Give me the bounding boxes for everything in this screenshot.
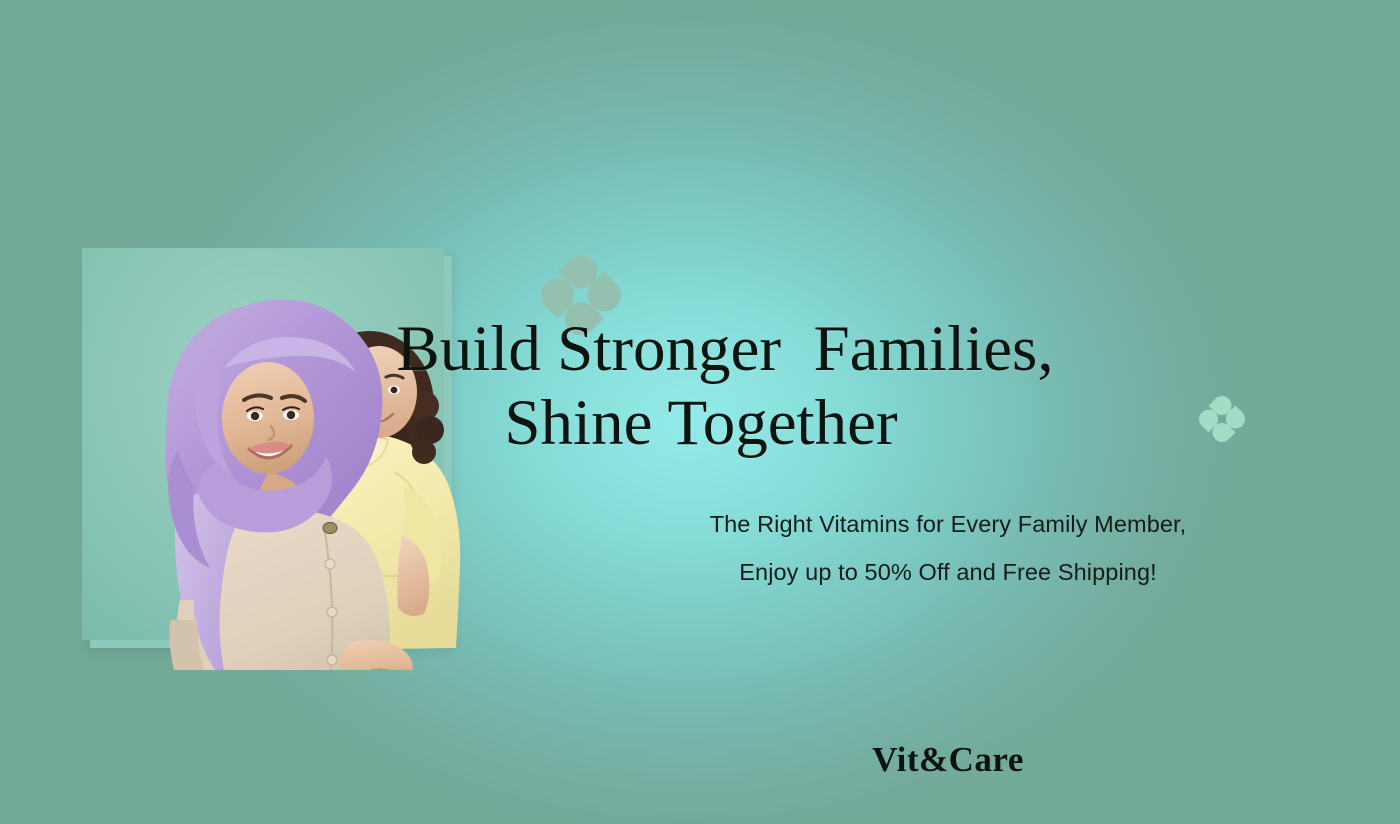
headline-line-2: Shine Together — [2, 386, 1400, 460]
subtitle: The Right Vitamins for Every Family Memb… — [448, 500, 1400, 596]
promo-banner: Build Stronger Families, Shine Together … — [0, 0, 1400, 824]
brand-logo: Vit&Care — [448, 740, 1400, 780]
subtitle-line-1: The Right Vitamins for Every Family Memb… — [448, 500, 1400, 548]
headline-line-1: Build Stronger Families, — [50, 312, 1400, 386]
headline: Build Stronger Families, Shine Together — [0, 312, 1400, 460]
subtitle-line-2: Enjoy up to 50% Off and Free Shipping! — [448, 548, 1400, 596]
